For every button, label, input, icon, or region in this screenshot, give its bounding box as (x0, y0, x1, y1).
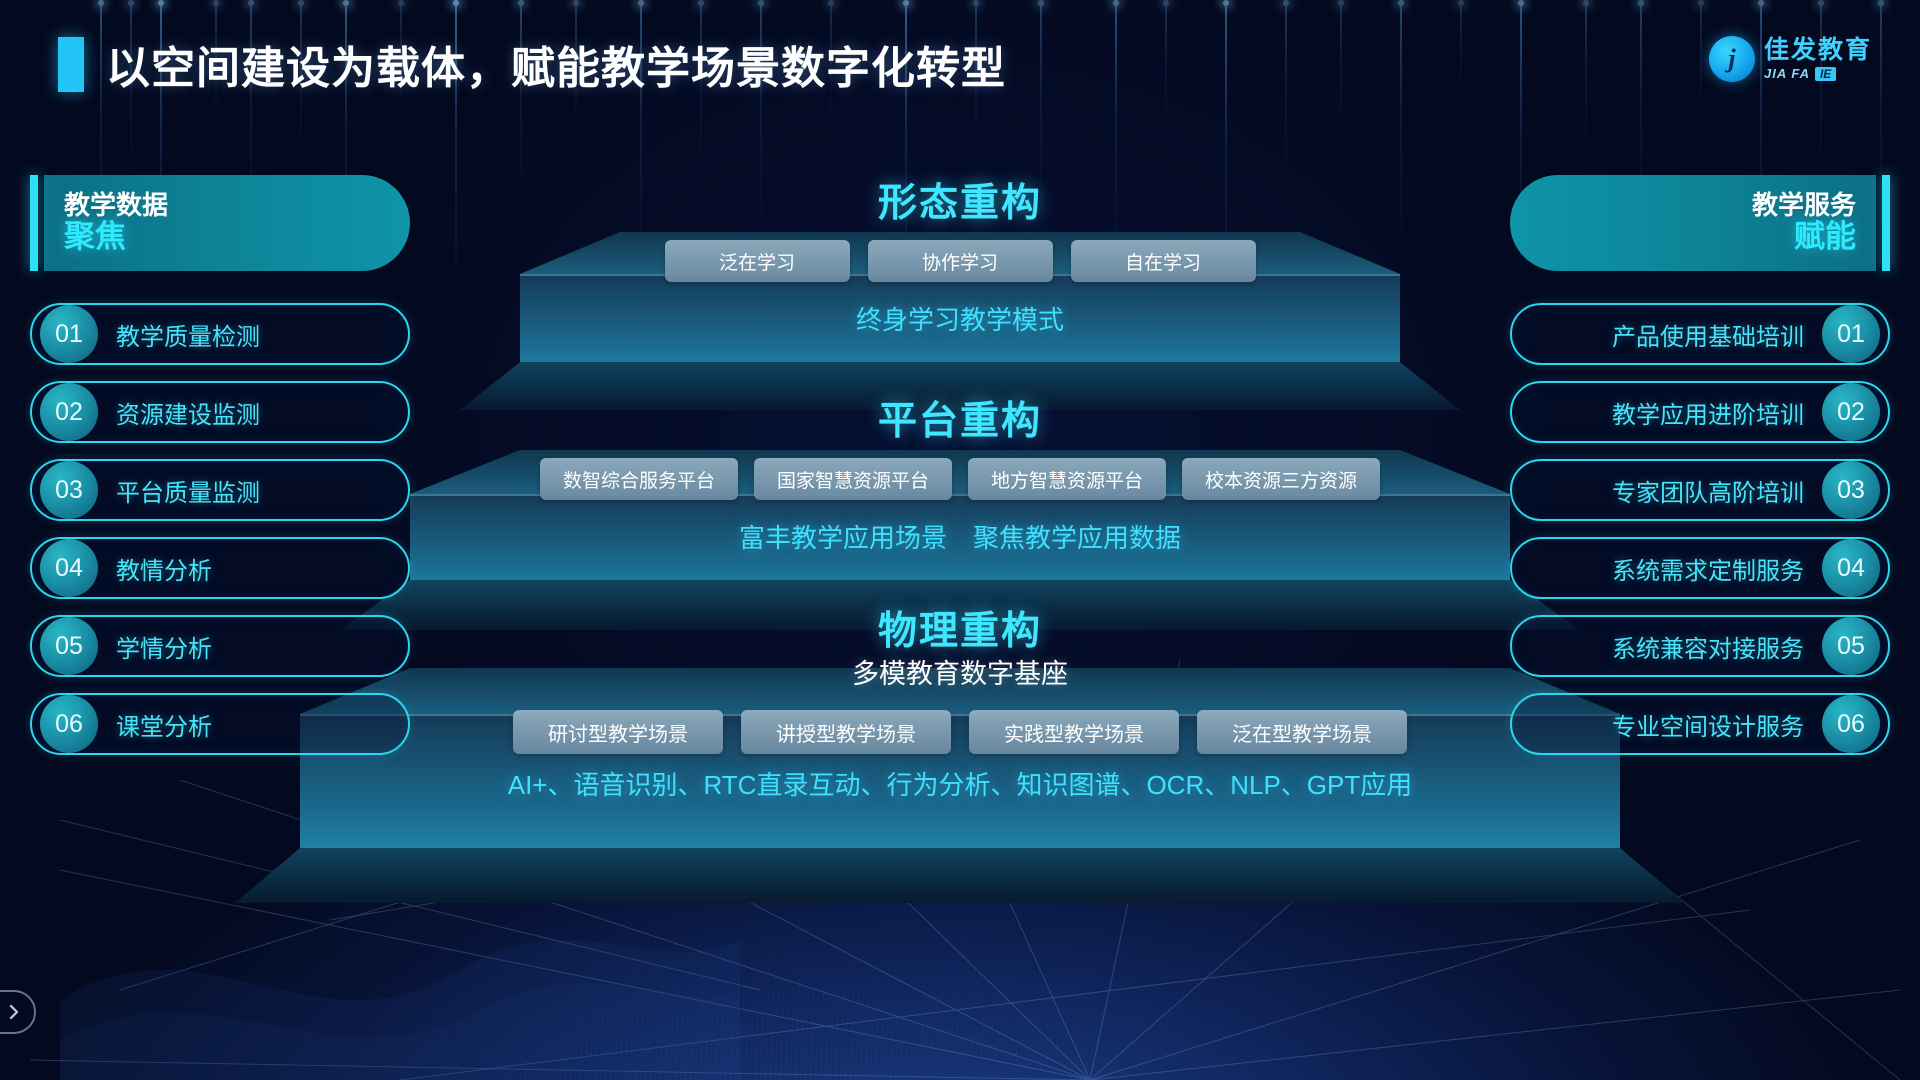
list-item[interactable]: 05系统兼容对接服务 (1510, 615, 1890, 677)
item-number: 03 (40, 461, 98, 519)
title-accent-bar (58, 37, 84, 92)
right-panel: 教学服务 赋能 01产品使用基础培训02教学应用进阶培训03专家团队高阶培训04… (1510, 175, 1890, 755)
logo-name-cn: 佳发教育 (1764, 38, 1872, 63)
brand-logo: j 佳发教育 JIA FA IE (1709, 36, 1872, 82)
tier-pill[interactable]: 协作学习 (868, 240, 1053, 282)
tier-subtitle: 富丰教学应用场景 (739, 523, 947, 553)
tier-pill[interactable]: 研讨型教学场景 (513, 710, 723, 754)
right-panel-heading-top: 教学服务 (1544, 191, 1856, 220)
item-number: 05 (40, 617, 98, 675)
logo-text: 佳发教育 JIA FA IE (1764, 38, 1872, 81)
logo-mark-letter: j (1728, 46, 1735, 72)
list-item[interactable]: 04教情分析 (30, 537, 410, 599)
item-number: 01 (1822, 305, 1880, 363)
item-label: 专家团队高阶培训 (1512, 473, 1822, 508)
item-number: 06 (1822, 695, 1880, 753)
tier-pill[interactable]: 泛在学习 (665, 240, 850, 282)
page-header: 以空间建设为载体，赋能教学场景数字化转型 j 佳发教育 JIA FA IE (0, 0, 1920, 120)
list-item[interactable]: 06课堂分析 (30, 693, 410, 755)
tier-subtitle-secondary: 聚焦教学应用数据 (973, 523, 1181, 553)
logo-badge: IE (1815, 67, 1836, 81)
left-panel-header: 教学数据 聚焦 (30, 175, 410, 271)
item-label: 系统需求定制服务 (1512, 551, 1822, 586)
left-panel-list: 01教学质量检测02资源建设监测03平台质量监测04教情分析05学情分析06课堂… (30, 303, 410, 755)
logo-mark-icon: j (1709, 36, 1755, 82)
right-panel-heading-bottom: 赋能 (1544, 219, 1856, 255)
item-label: 专业空间设计服务 (1512, 707, 1822, 742)
item-number: 03 (1822, 461, 1880, 519)
item-label: 教学应用进阶培训 (1512, 395, 1822, 430)
list-item[interactable]: 01产品使用基础培训 (1510, 303, 1890, 365)
item-number: 02 (40, 383, 98, 441)
logo-en-row: JIA FA IE (1764, 67, 1872, 81)
left-panel-heading-bottom: 聚焦 (64, 219, 376, 255)
tier-pill[interactable]: 自在学习 (1071, 240, 1256, 282)
left-panel-header-text: 教学数据 聚焦 (30, 191, 410, 255)
tier-pill[interactable]: 讲授型教学场景 (741, 710, 951, 754)
item-number: 06 (40, 695, 98, 753)
item-number: 02 (1822, 383, 1880, 441)
item-label: 资源建设监测 (98, 395, 408, 430)
item-number: 05 (1822, 617, 1880, 675)
list-item[interactable]: 02教学应用进阶培训 (1510, 381, 1890, 443)
item-number: 04 (1822, 539, 1880, 597)
list-item[interactable]: 01教学质量检测 (30, 303, 410, 365)
tier-pill[interactable]: 数智综合服务平台 (540, 458, 738, 500)
tier-subtitle: AI+、语音识别、RTC直录互动、行为分析、知识图谱、OCR、NLP、GPT应用 (0, 765, 1920, 802)
list-item[interactable]: 05学情分析 (30, 615, 410, 677)
tier-pill[interactable]: 泛在型教学场景 (1197, 710, 1407, 754)
tier-pill[interactable]: 国家智慧资源平台 (754, 458, 952, 500)
list-item[interactable]: 04系统需求定制服务 (1510, 537, 1890, 599)
title-block: 以空间建设为载体，赋能教学场景数字化转型 (58, 32, 1006, 96)
right-panel-header-text: 教学服务 赋能 (1510, 191, 1890, 255)
item-label: 学情分析 (98, 629, 408, 664)
item-label: 平台质量监测 (98, 473, 408, 508)
item-label: 课堂分析 (98, 707, 408, 742)
item-number: 01 (40, 305, 98, 363)
right-panel-list: 01产品使用基础培训02教学应用进阶培训03专家团队高阶培训04系统需求定制服务… (1510, 303, 1890, 755)
list-item[interactable]: 03平台质量监测 (30, 459, 410, 521)
left-panel-heading-top: 教学数据 (64, 191, 376, 220)
tier-base-plinth (160, 848, 1760, 903)
item-label: 产品使用基础培训 (1512, 317, 1822, 352)
list-item[interactable]: 03专家团队高阶培训 (1510, 459, 1890, 521)
tier-pill[interactable]: 实践型教学场景 (969, 710, 1179, 754)
tier-pill[interactable]: 校本资源三方资源 (1182, 458, 1380, 500)
item-label: 系统兼容对接服务 (1512, 629, 1822, 664)
list-item[interactable]: 02资源建设监测 (30, 381, 410, 443)
right-panel-header: 教学服务 赋能 (1510, 175, 1890, 271)
item-label: 教情分析 (98, 551, 408, 586)
chevron-right-icon (5, 1003, 23, 1021)
page-title: 以空间建设为载体，赋能教学场景数字化转型 (106, 32, 1006, 96)
list-item[interactable]: 06专业空间设计服务 (1510, 693, 1890, 755)
item-number: 04 (40, 539, 98, 597)
tier-pill[interactable]: 地方智慧资源平台 (968, 458, 1166, 500)
logo-name-en: JIA FA (1764, 67, 1810, 80)
item-label: 教学质量检测 (98, 317, 408, 352)
tier-plinth-face (235, 848, 1685, 903)
left-panel: 教学数据 聚焦 01教学质量检测02资源建设监测03平台质量监测04教情分析05… (30, 175, 410, 755)
